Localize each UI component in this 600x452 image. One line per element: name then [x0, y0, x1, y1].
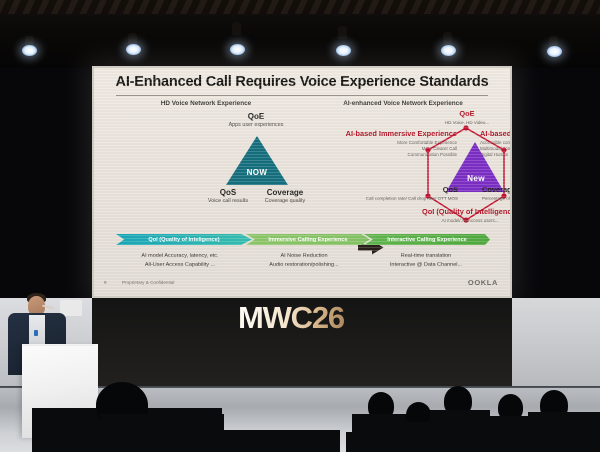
- right-qos-subtitle: Call completion rate/ Call drop rate/ OT…: [334, 196, 458, 202]
- front-row-block: [100, 430, 340, 452]
- left-qoe-title: QoE: [207, 112, 305, 121]
- right-coverage-subtitle: Percentage of HD voice/Latency: [482, 196, 510, 202]
- conference-stage-photo: AI-Enhanced Call Requires Voice Experien…: [0, 0, 600, 452]
- spotlight-housing: [232, 22, 241, 35]
- ookla-logo: OOKLA: [468, 278, 498, 287]
- stage-chevron-interactive: Interactive Calling Experience: [364, 234, 490, 245]
- stage-wall-right-panel: [512, 298, 600, 398]
- right-qoi-title: QoI (Quality of Intelligence): [386, 208, 510, 217]
- presentation-slide: AI-Enhanced Call Requires Voice Experien…: [94, 68, 510, 296]
- page-title: AI-Enhanced Call Requires Voice Experien…: [94, 74, 510, 90]
- right-vertex-qos: QoS Call completion rate/ Call drop rate…: [334, 186, 458, 202]
- right-qoe-title: QoE: [425, 110, 509, 119]
- stage-detail-3: Real-time translation Interactive @ Data…: [362, 252, 490, 269]
- left-vertex-qoe: QoE Apps user experiences: [207, 112, 305, 129]
- slide-page-number: 9: [104, 280, 107, 285]
- now-triangle-shape: [226, 136, 288, 185]
- left-coverage-subtitle: Coverage quality: [246, 198, 324, 205]
- stage-chevron-qoi: QoI (Quality of Inteligence): [116, 234, 252, 245]
- spotlight-icon: [547, 46, 562, 57]
- ceiling: [0, 0, 600, 68]
- new-triangle-label: New: [447, 174, 505, 183]
- left-coverage-title: Coverage: [246, 188, 324, 197]
- spotlight-icon: [22, 45, 37, 56]
- now-triangle-label: NOW: [228, 168, 286, 177]
- right-qoi-subtitle: AI model/ All-Access users...: [386, 218, 510, 224]
- stage-chevron-band: QoI (Quality of Inteligence) Immersive C…: [116, 234, 490, 245]
- left-vertex-coverage: Coverage Coverage quality: [246, 188, 324, 205]
- left-column-heading: HD Voice Network Experience: [116, 100, 296, 107]
- mwc-branding: MWC26: [238, 300, 344, 336]
- spotlight-housing: [443, 32, 452, 45]
- confidentiality-notice: Proprietary & Confidential: [122, 280, 174, 285]
- front-row-block: [346, 432, 600, 452]
- right-coverage-title: Coverage: [482, 186, 510, 195]
- spotlight-icon: [336, 45, 351, 56]
- ceiling-truss: [0, 0, 600, 14]
- stage-chevron-immersive: Immersive Calling Experience: [246, 234, 370, 245]
- title-divider: [116, 95, 488, 96]
- right-vertex-qoi: QoI (Quality of Intelligence) AI model/ …: [386, 208, 510, 224]
- left-qoe-subtitle: Apps user experiences: [207, 122, 305, 129]
- slide-footer: 9 Proprietary & Confidential OOKLA: [94, 280, 510, 296]
- right-vertex-coverage: Coverage Percentage of HD voice/Latency: [482, 186, 510, 202]
- speaker-lapel-pin: [34, 330, 38, 336]
- stage-detail-1: AI model Accuracy, latency, etc. All-Use…: [116, 252, 244, 269]
- right-column-heading: AI-enhanced Voice Network Experience: [310, 100, 496, 107]
- spotlight-icon: [230, 44, 245, 55]
- stage-detail-2: AI Noise Reduction Audio restoration/pol…: [244, 252, 364, 269]
- spotlight-housing: [338, 26, 347, 39]
- right-qos-title: QoS: [334, 186, 458, 195]
- spotlight-icon: [441, 45, 456, 56]
- spotlight-icon: [126, 44, 141, 55]
